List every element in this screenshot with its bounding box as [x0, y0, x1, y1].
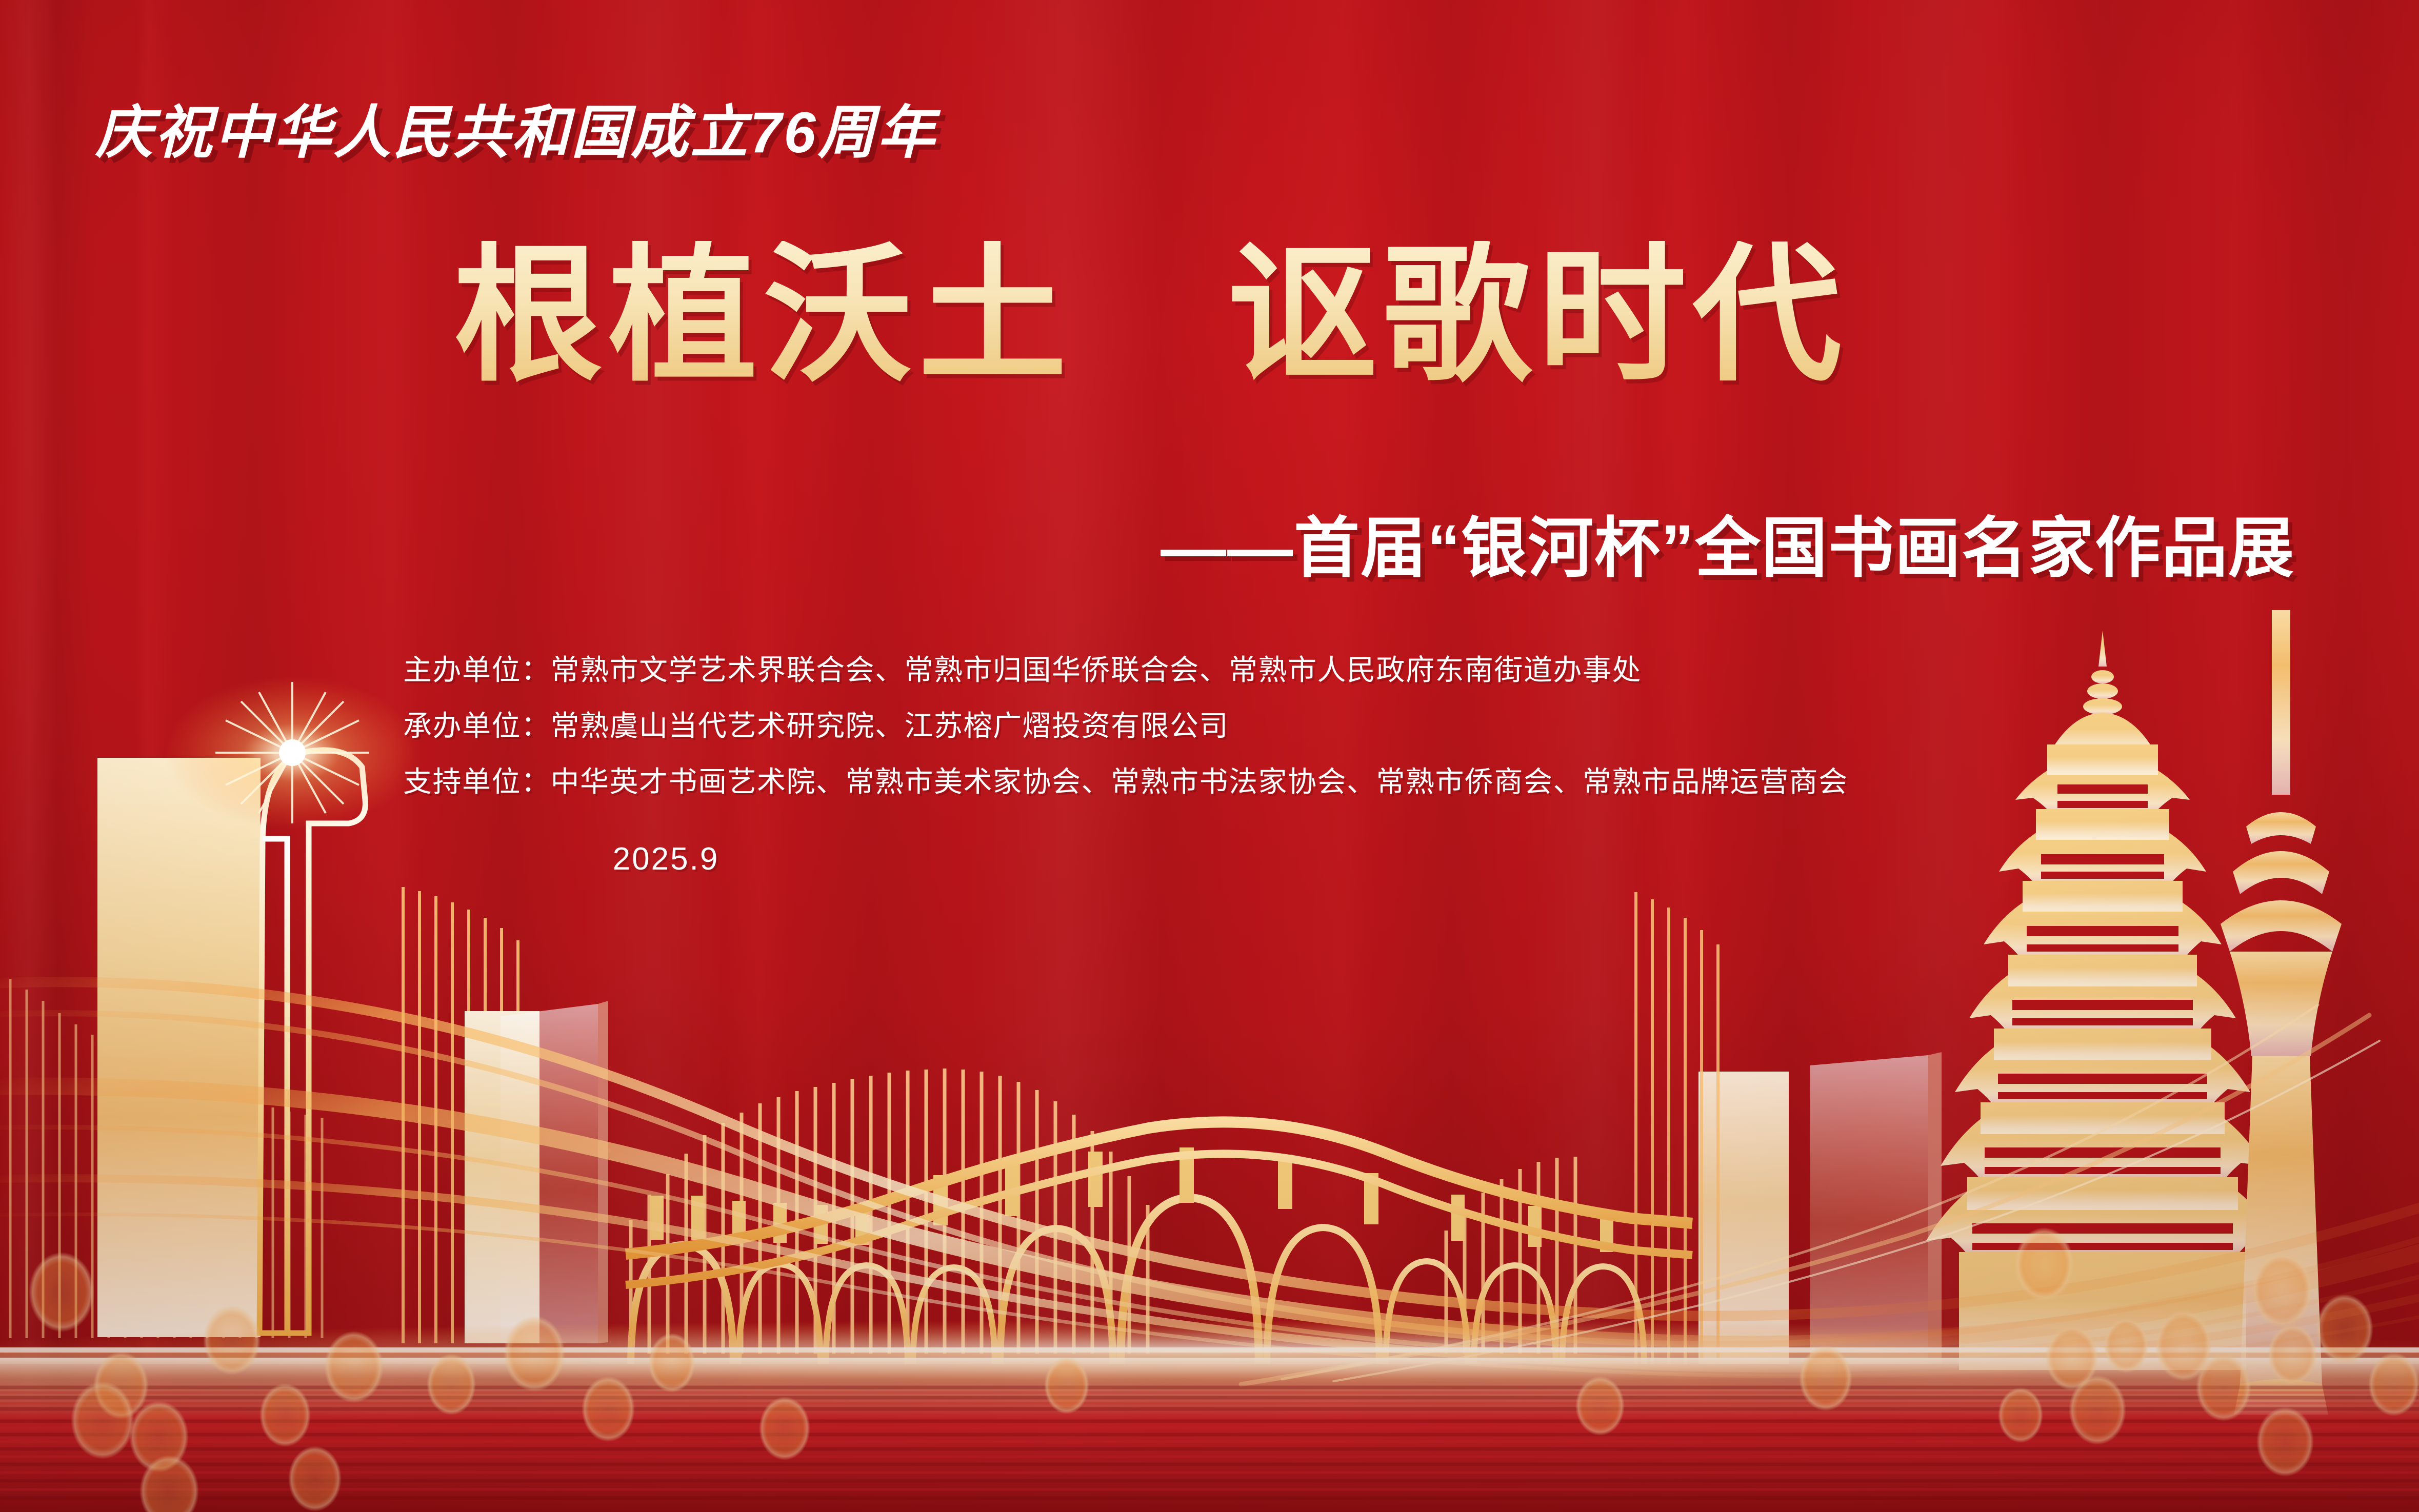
arched-stone-bridge: [626, 1122, 1692, 1364]
organizer-line-supporter: 支持单位：中华英才书画艺术院、常熟市美术家协会、常熟市书法家协会、常熟市侨商会、…: [403, 754, 2095, 810]
line-comb-cluster-left: [10, 979, 322, 1338]
line-comb-cluster-far-right: [1636, 892, 1718, 1364]
glass-slab-e: [1810, 1055, 1928, 1364]
glass-slab-f: [1928, 1052, 1942, 1364]
glass-slab-c: [598, 1001, 608, 1343]
bokeh-circles: [29, 1227, 2419, 1512]
floor-panel: [0, 1358, 2419, 1512]
outlined-spire-tower: [259, 750, 365, 1333]
organizer-line-undertaker: 承办单位：常熟虞山当代艺术研究院、江苏榕广熠投资有限公司: [403, 698, 2095, 754]
line-comb-cluster-mid: [403, 887, 518, 1343]
glass-slab-b: [501, 1004, 598, 1343]
line-comb-cluster-center: [631, 1069, 1148, 1354]
light-ribbons: [0, 982, 2419, 1384]
anniversary-tagline: 庆祝中华人民共和国成立76周年: [95, 86, 937, 169]
tv-tower: [2221, 610, 2342, 1415]
glass-slab-d: [1698, 1072, 1789, 1364]
organizer-block: 主办单位：常熟市文学艺术界联合会、常熟市归国华侨联合会、常熟市人民政府东南街道办…: [403, 642, 2095, 810]
page-title: 根植沃土 讴歌时代: [0, 241, 2419, 390]
poster-canvas: 庆祝中华人民共和国成立76周年 根植沃土 讴歌时代 ——首届“银河杯”全国书画名…: [0, 0, 2419, 1512]
floor-stripes: [0, 1387, 2419, 1498]
star-flare-icon: [164, 676, 421, 830]
glow-floor-line: [0, 1320, 2419, 1383]
floor-stripes-light: [0, 1393, 2419, 1489]
glass-slab-a: [465, 1011, 539, 1343]
exhibition-subtitle: ——首届“银河杯”全国书画名家作品展: [0, 495, 2419, 590]
line-comb-cluster-right: [1446, 1157, 1575, 1354]
organizer-line-host: 主办单位：常熟市文学艺术界联合会、常熟市归国华侨联合会、常熟市人民政府东南街道办…: [403, 642, 2095, 698]
event-date: 2025.9: [0, 841, 2419, 877]
